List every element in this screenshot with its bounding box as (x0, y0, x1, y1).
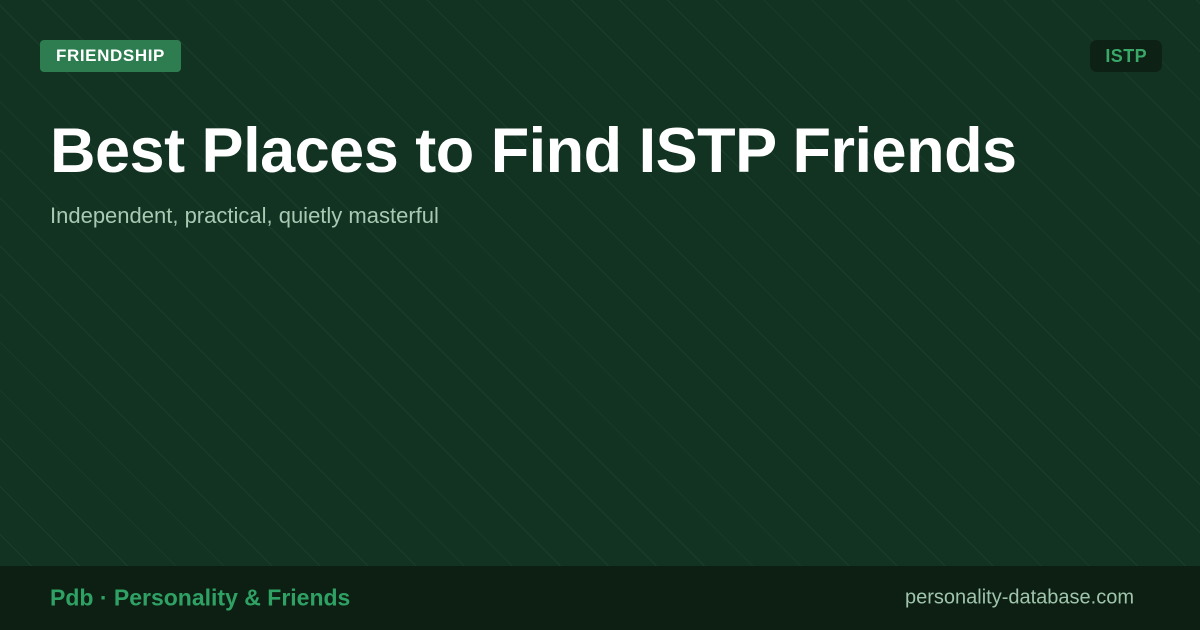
personality-type-badge: ISTP (1090, 40, 1162, 72)
footer-site-url: personality-database.com (905, 587, 1134, 610)
badge-row: FRIENDSHIP ISTP (0, 40, 1200, 72)
headline-block: Best Places to Find ISTP Friends Indepen… (50, 118, 1150, 231)
social-share-card: FRIENDSHIP ISTP Best Places to Find ISTP… (0, 0, 1200, 630)
footer-bar: Pdb · Personality & Friends personality-… (0, 566, 1200, 630)
category-badge: FRIENDSHIP (40, 40, 181, 72)
page-title: Best Places to Find ISTP Friends (50, 118, 1150, 185)
footer-brand-label: Pdb · Personality & Friends (50, 585, 350, 612)
page-subtitle: Independent, practical, quietly masterfu… (50, 185, 1150, 231)
footer-inner: Pdb · Personality & Friends personality-… (0, 566, 1200, 630)
card-content: FRIENDSHIP ISTP Best Places to Find ISTP… (0, 0, 1200, 630)
